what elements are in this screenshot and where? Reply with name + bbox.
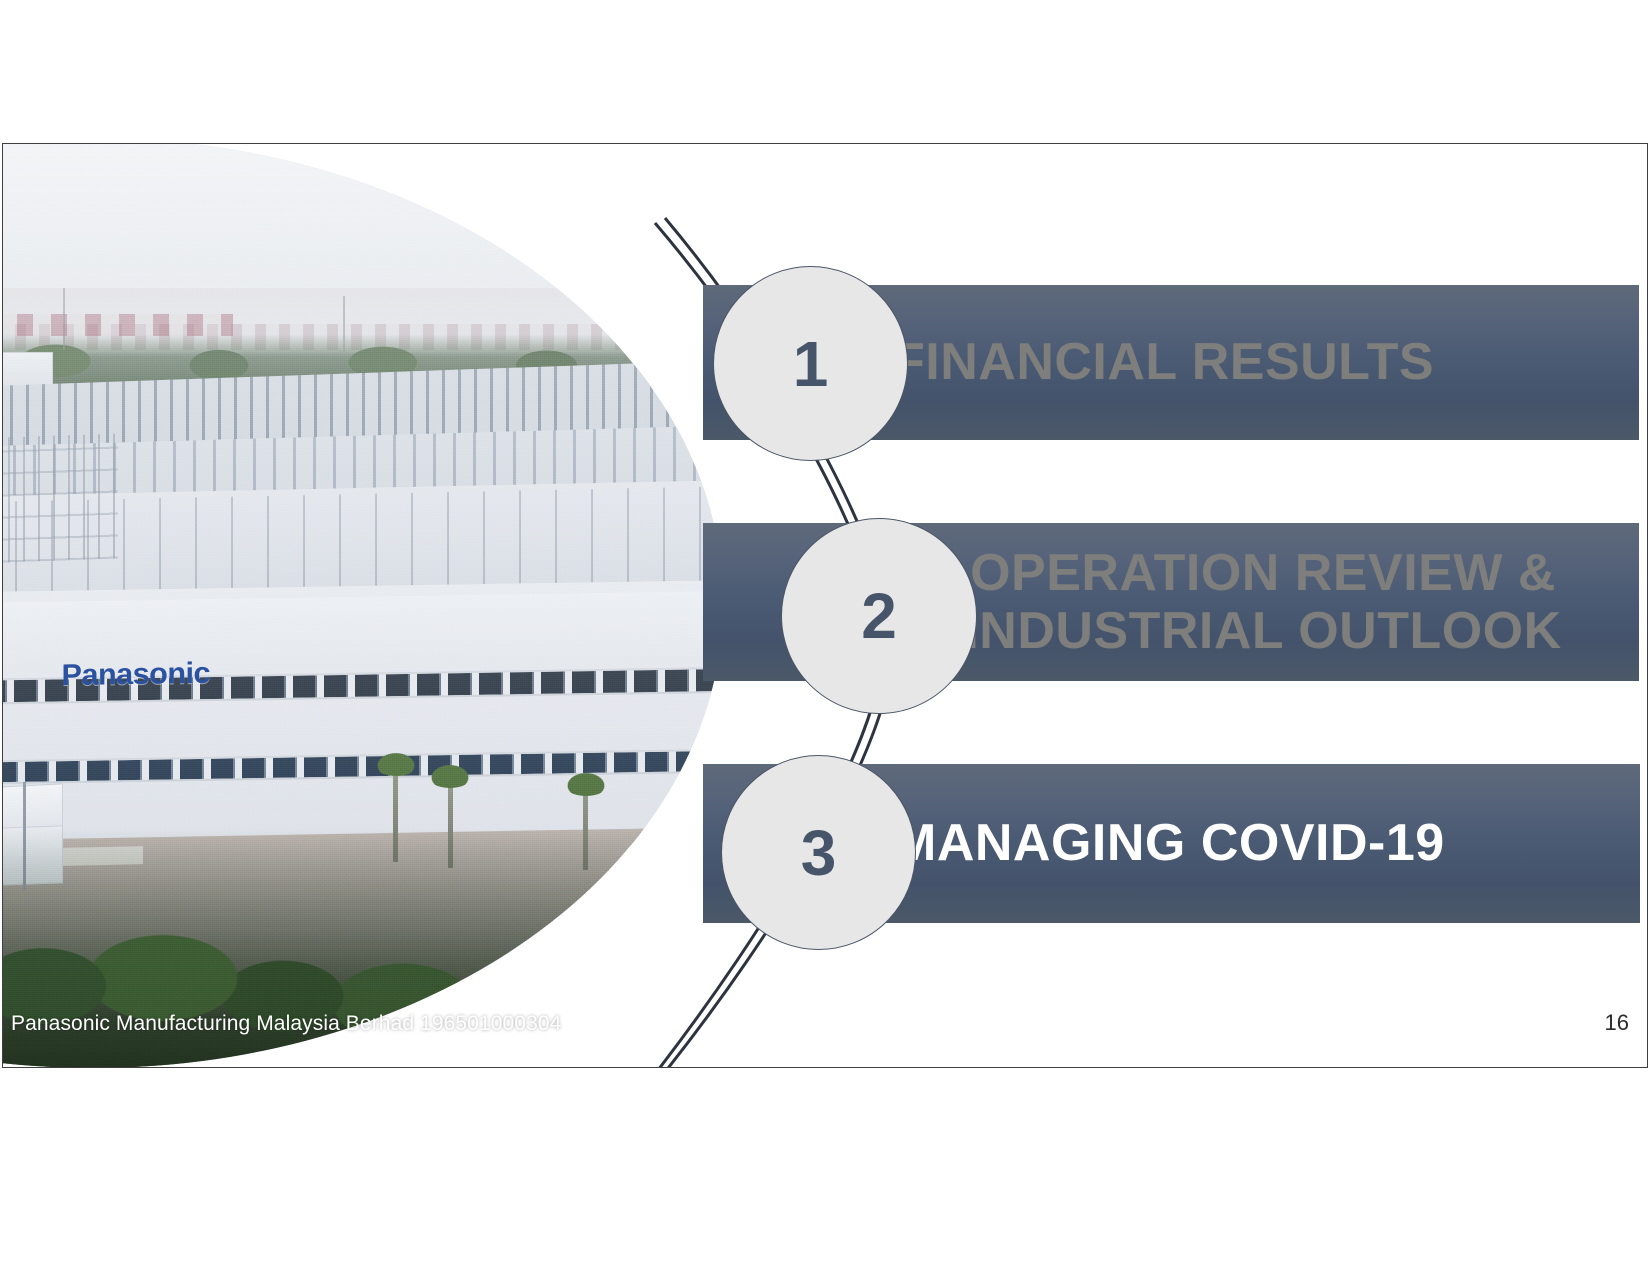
palm-crown: [563, 770, 609, 796]
utility-pole: [63, 288, 65, 350]
factory-photograph: Panasonic: [2, 143, 723, 1068]
agenda-number-badge-3[interactable]: 3: [721, 755, 916, 950]
rooftop-scaffolding: [2, 433, 118, 567]
utility-pole: [643, 300, 645, 352]
agenda-number-badge-1[interactable]: 1: [713, 266, 908, 461]
agenda-item-1-label: FINANCIAL RESULTS: [893, 335, 1434, 390]
footer-company-name: Panasonic Manufacturing Malaysia Berhad …: [11, 1012, 561, 1036]
distant-town-red: [2, 314, 233, 336]
utility-pole: [343, 296, 345, 352]
agenda-item-3-label: MANAGING COVID-19: [893, 816, 1445, 871]
hero-photo: Panasonic: [2, 143, 723, 1068]
agenda-number-badge-2[interactable]: 2: [781, 518, 977, 714]
slide-page-number: 16: [1605, 1010, 1629, 1036]
palm-crown: [373, 750, 419, 776]
palm-crown: [427, 762, 473, 788]
panasonic-logo: Panasonic: [62, 657, 210, 693]
slide-canvas: Panasonic FINANCIAL RESULTS OPERATION RE…: [2, 143, 1648, 1068]
agenda-item-2-label: OPERATION REVIEW & INDUSTRIAL OUTLOOK: [943, 544, 1583, 660]
